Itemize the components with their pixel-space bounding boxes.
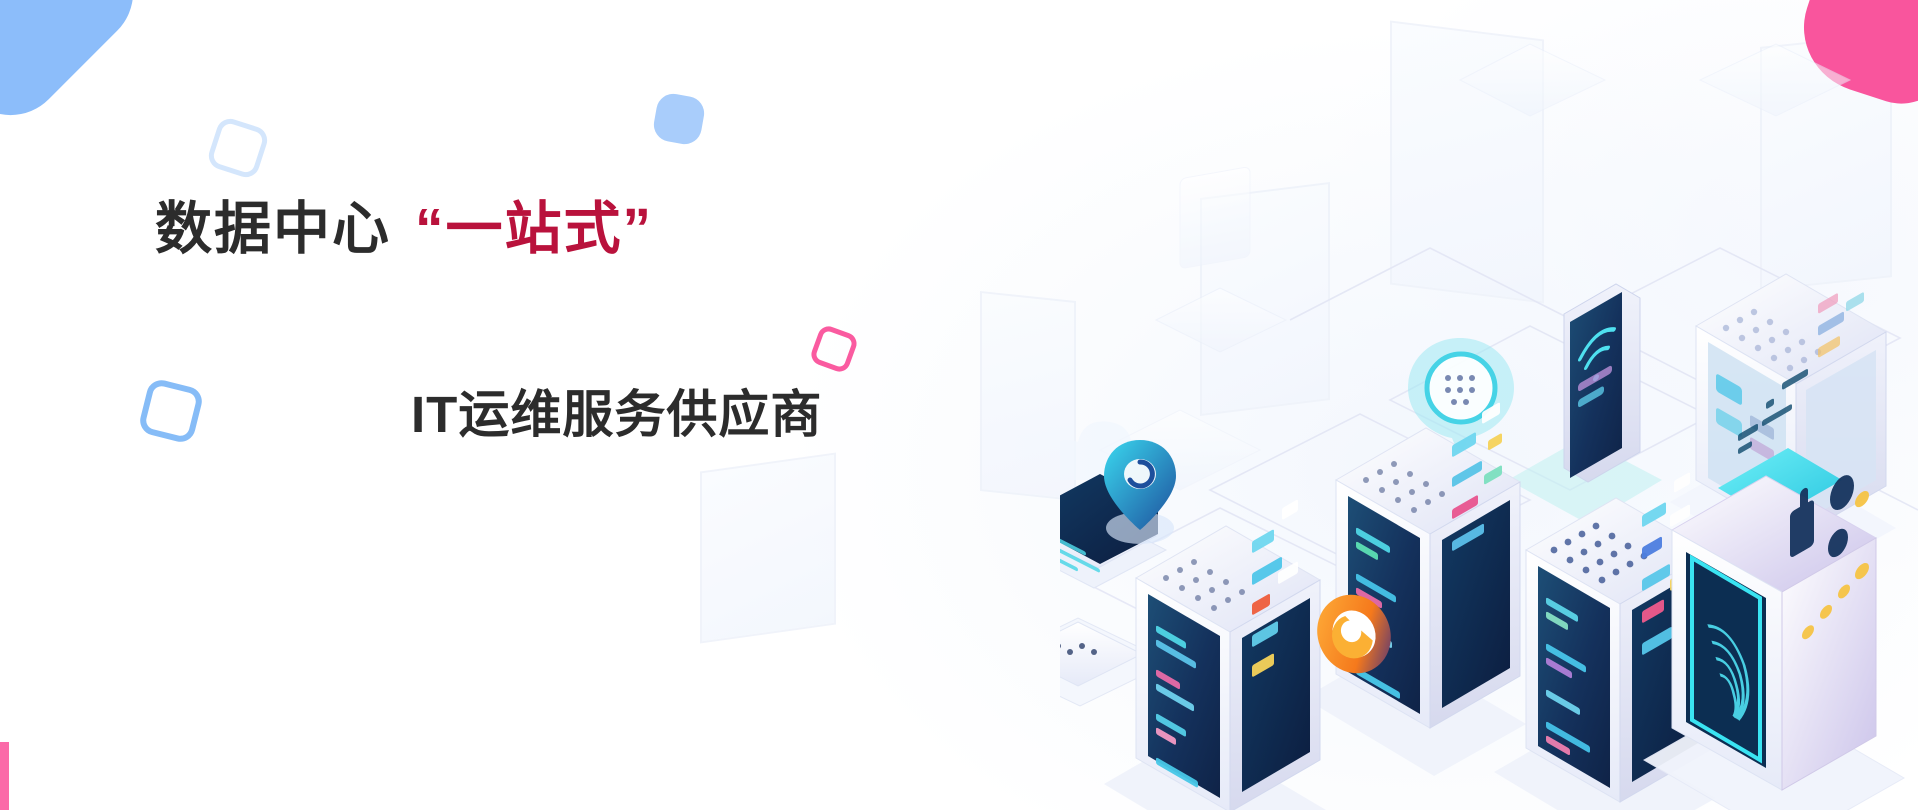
headline-dark-text: 数据中心: [155, 197, 391, 261]
bar-bottom-left-icon: [0, 742, 9, 810]
server-rack-center-icon: [1304, 402, 1526, 776]
isometric-data-center-illustration: [1060, 20, 1918, 810]
ghost-building-1: [700, 452, 836, 643]
hero-copy: 数据中心“一站式” IT运维服务供应商: [155, 196, 985, 447]
location-pin-icon: [1104, 440, 1176, 544]
headline-line-2: IT运维服务供应商: [411, 373, 985, 447]
headline-line-1: 数据中心“一站式”: [155, 196, 985, 263]
headline-accent-text: “一站式”: [415, 197, 653, 261]
hero-banner: 数据中心“一站式” IT运维服务供应商: [0, 0, 1918, 810]
blob-top-left-icon: [0, 0, 155, 137]
smartphone-wifi-icon: [1508, 284, 1662, 524]
ring-blue-small-icon: [205, 115, 271, 181]
dot-blue-filled-icon: [651, 91, 707, 147]
